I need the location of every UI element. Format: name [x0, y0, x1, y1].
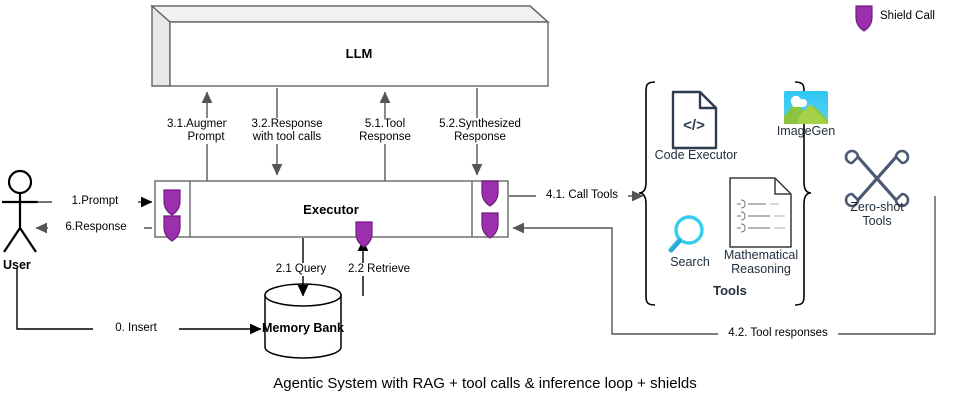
flow-label-5-2: 5.2.Synthesized Response [420, 118, 540, 144]
shield-legend-icon [856, 6, 872, 31]
magnifier-icon [671, 217, 702, 250]
tools-left-brace [639, 82, 655, 305]
diagram-vector-layer: </> [0, 0, 970, 411]
tool-caption-search: Search [659, 255, 721, 269]
user-actor [2, 171, 38, 252]
tool-caption-imagegen: ImageGen [766, 124, 846, 138]
flow-label-1-prompt: 1.Prompt [52, 195, 138, 208]
code-document-icon: </> [673, 92, 716, 148]
flow-label-2-2-retrieve: 2.2 Retrieve [333, 263, 425, 276]
flow-label-6-response: 6.Response [48, 221, 144, 234]
flow-0-insert [17, 268, 261, 329]
tool-caption-zero-shot-tools: Zero-shot Tools [840, 200, 914, 228]
user-label: User [3, 258, 31, 272]
legend-shield-label: Shield Call [880, 10, 935, 22]
image-picture-icon [784, 91, 828, 124]
flow-label-4-1-call-tools: 4.1. Call Tools [536, 189, 628, 202]
flow-label-0-insert: 0. Insert [93, 322, 179, 335]
svg-text:</>: </> [683, 117, 705, 134]
memory-bank-label: Memory Bank [255, 321, 351, 335]
flow-label-3-2: 3.2.Response with tool calls [227, 118, 347, 144]
tool-caption-code-executor: Code Executor [646, 148, 746, 162]
executor-label: Executor [190, 202, 472, 217]
tool-caption-mathematical-reasoning: Mathematical Reasoning [717, 248, 805, 276]
flow-label-2-1-query: 2.1 Query [262, 263, 340, 276]
llm-label: LLM [170, 46, 548, 61]
diagram-canvas: </> [0, 0, 970, 411]
crossed-wrenches-icon [846, 151, 908, 206]
shield-executor-memory [356, 222, 372, 247]
diagram-caption: Agentic System with RAG + tool calls & i… [0, 375, 970, 392]
flow-label-4-2-tool-responses: 4.2. Tool responses [718, 327, 838, 340]
tools-group-label: Tools [690, 283, 770, 298]
formula-document-icon [730, 178, 791, 247]
